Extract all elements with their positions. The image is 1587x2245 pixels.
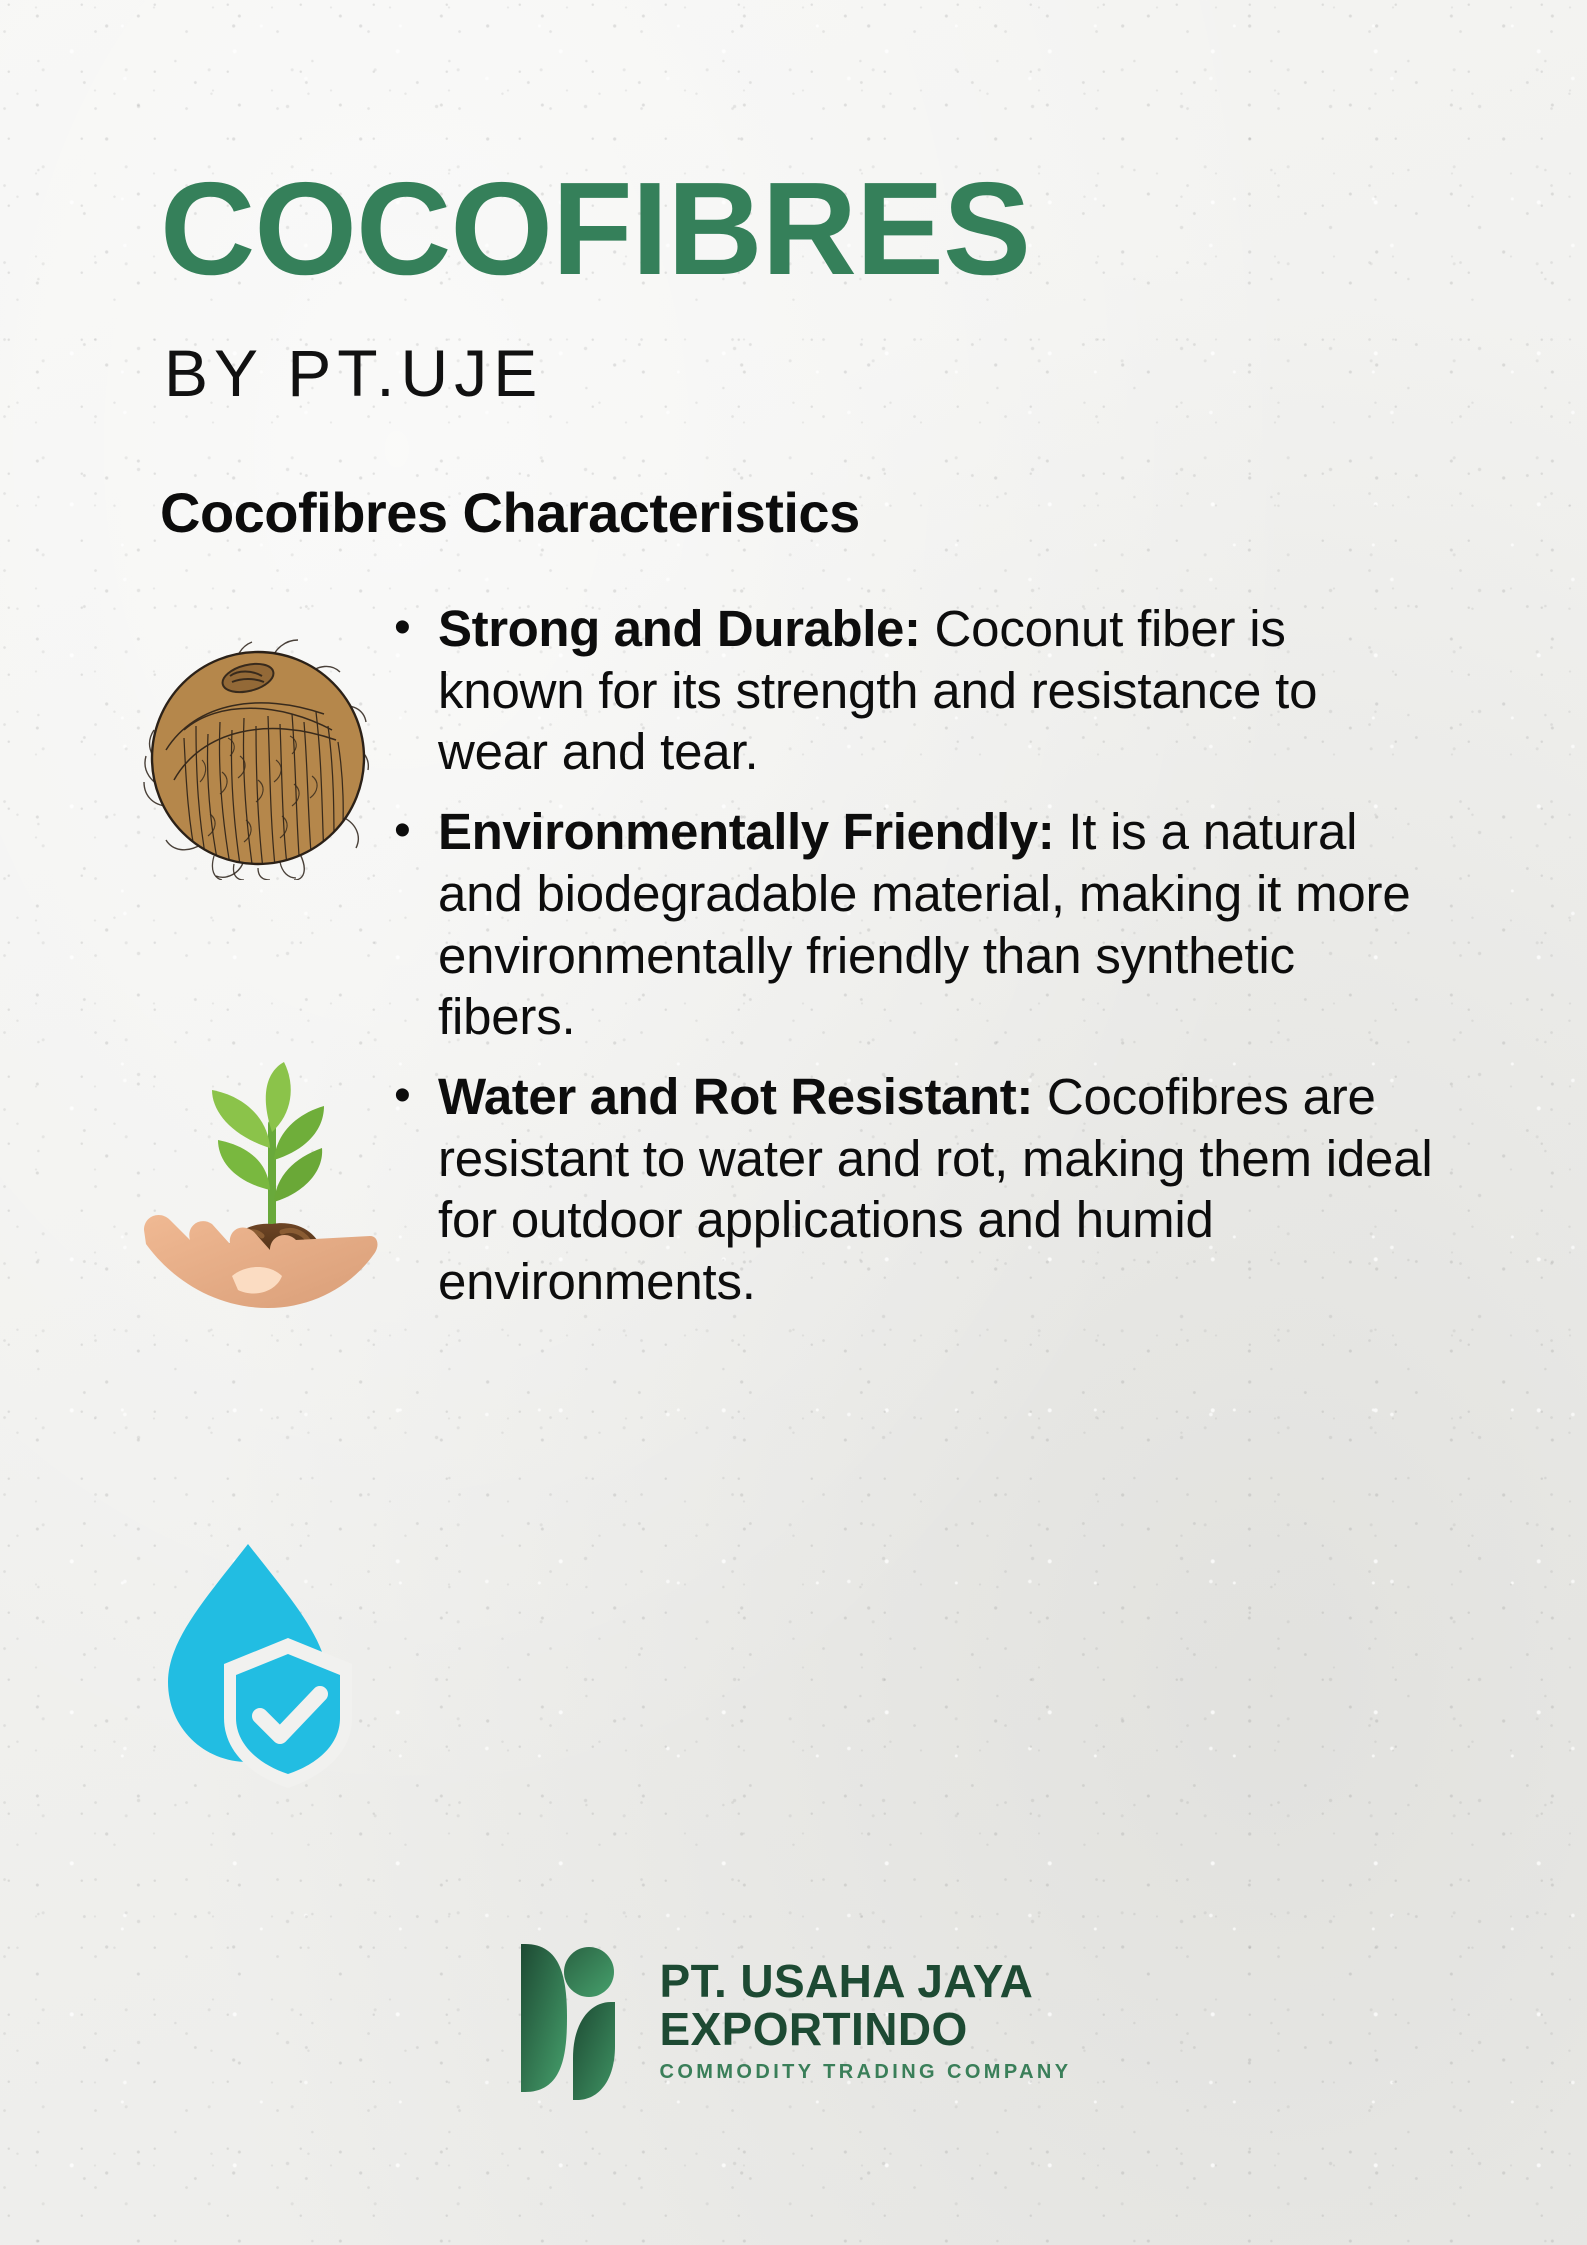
characteristic-text: Environmentally Friendly: It is a natura… (438, 801, 1438, 1048)
page-subtitle: BY PT.UJE (164, 340, 543, 406)
list-item: • Environmentally Friendly: It is a natu… (438, 801, 1438, 1048)
poster-canvas: COCOFIBRES BY PT.UJE Cocofibres Characte… (0, 0, 1587, 2245)
list-item: • Strong and Durable: Coconut fiber is k… (438, 598, 1438, 783)
characteristic-lead: Water and Rot Resistant: (438, 1068, 1033, 1125)
characteristics-list: • Strong and Durable: Coconut fiber is k… (438, 598, 1438, 1313)
water-drop-shield-icon (140, 1530, 370, 1800)
logo-wordmark: PT. USAHA JAYA EXPORTINDO COMMODITY TRAD… (659, 1958, 1071, 2083)
plant-in-hand-icon (120, 1040, 380, 1310)
bullet-dot-icon: • (394, 807, 411, 855)
company-logo: PT. USAHA JAYA EXPORTINDO COMMODITY TRAD… (0, 1940, 1587, 2100)
bullet-dot-icon: • (394, 1072, 411, 1120)
logo-mark-icon (515, 1940, 633, 2100)
logo-line-2: EXPORTINDO (659, 2006, 1071, 2054)
characteristic-text: Strong and Durable: Coconut fiber is kno… (438, 598, 1438, 783)
logo-tagline: COMMODITY TRADING COMPANY (659, 2062, 1071, 2082)
bullet-dot-icon: • (394, 604, 411, 652)
list-item: • Water and Rot Resistant: Cocofibres ar… (438, 1066, 1438, 1313)
characteristic-text: Water and Rot Resistant: Cocofibres are … (438, 1066, 1438, 1313)
characteristic-lead: Strong and Durable: (438, 600, 921, 657)
characteristic-lead: Environmentally Friendly: (438, 803, 1054, 860)
page-title: COCOFIBRES (160, 163, 1030, 295)
coconut-icon (140, 630, 370, 880)
logo-line-1: PT. USAHA JAYA (659, 1958, 1071, 2006)
section-heading: Cocofibres Characteristics (160, 485, 860, 541)
